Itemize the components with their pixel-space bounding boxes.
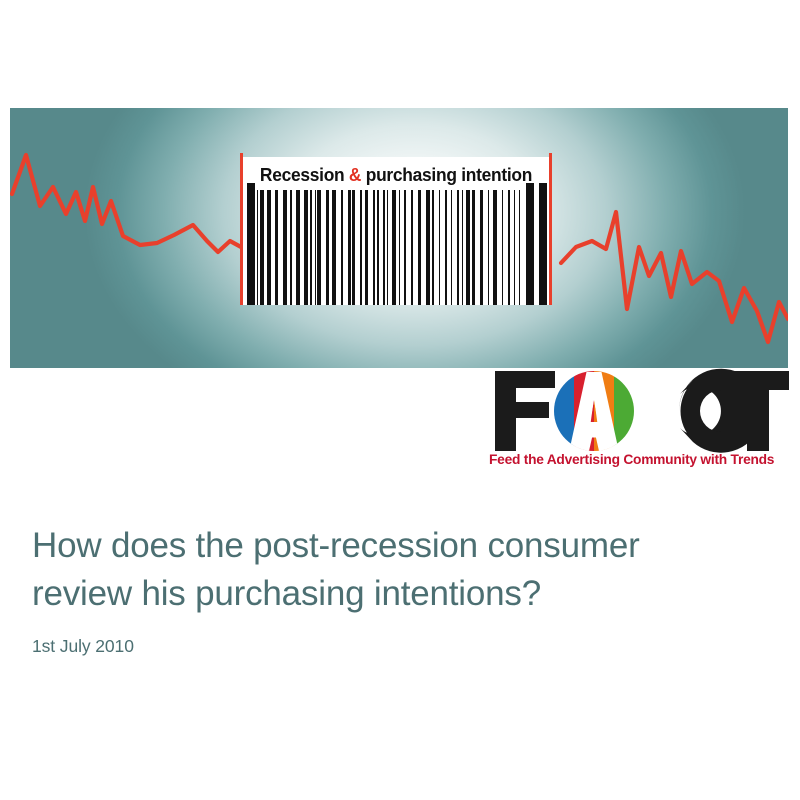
barcode-bar — [352, 190, 355, 305]
barcode-bar — [267, 190, 271, 305]
fact-logo: Feed the Advertising Community with Tren… — [487, 366, 792, 478]
barcode-bar — [332, 190, 336, 305]
barcode-graphic: Recession & purchasing intention — [243, 157, 549, 305]
barcode-bar — [432, 190, 434, 305]
barcode-bar — [502, 190, 503, 305]
barcode-bar — [480, 190, 483, 305]
title-block: How does the post-recession consumer rev… — [32, 522, 772, 657]
barcode-guard-bar-right-b — [539, 183, 547, 305]
fact-logo-tagline: Feed the Advertising Community with Tren… — [489, 452, 783, 468]
barcode-caption-after: purchasing intention — [361, 164, 532, 185]
page-title: How does the post-recession consumer rev… — [32, 522, 772, 618]
barcode-bar — [296, 190, 300, 305]
barcode-caption-text: Recession & purchasing intention — [252, 157, 540, 193]
barcode-caption-before: Recession — [260, 164, 349, 185]
barcode-bar — [275, 190, 278, 305]
barcode-bar — [451, 190, 452, 305]
barcode-bar — [373, 190, 375, 305]
barcode-bar — [462, 190, 463, 305]
barcode-rail-right — [549, 153, 552, 305]
barcode-bar — [488, 190, 489, 305]
barcode-rail-left — [240, 153, 243, 305]
barcode-guard-bar-right-a — [526, 183, 534, 305]
barcode-bar — [404, 190, 406, 305]
barcode-bar — [399, 190, 400, 305]
barcode-guard-bar-left — [247, 183, 255, 305]
barcode-bar — [439, 190, 440, 305]
barcode-bar — [519, 190, 520, 305]
barcode-bar — [411, 190, 413, 305]
barcode-bar — [348, 190, 351, 305]
barcode-bars — [243, 190, 549, 305]
trend-line-right — [561, 212, 788, 342]
fact-logo-wordmark — [487, 366, 792, 454]
barcode-bar — [326, 190, 329, 305]
barcode-bar — [341, 190, 343, 305]
barcode-bar — [514, 190, 515, 305]
barcode-bar — [317, 190, 321, 305]
barcode-bar — [426, 190, 430, 305]
barcode-bar — [466, 190, 470, 305]
barcode-bar — [315, 190, 316, 305]
barcode-bar — [310, 190, 312, 305]
barcode-bar — [383, 190, 385, 305]
barcode-bar — [290, 190, 292, 305]
barcode-bar — [493, 190, 497, 305]
barcode-bar — [260, 190, 264, 305]
barcode-bar — [392, 190, 396, 305]
page-date: 1st July 2010 — [32, 636, 772, 657]
barcode-bar — [472, 190, 475, 305]
barcode-bar — [418, 190, 421, 305]
barcode-bar — [257, 190, 258, 305]
barcode-bar — [457, 190, 459, 305]
barcode-bar — [283, 190, 287, 305]
barcode-bar — [508, 190, 510, 305]
barcode-bar — [387, 190, 388, 305]
barcode-bar — [304, 190, 308, 305]
page-title-line-1: How does the post-recession consumer — [32, 526, 640, 565]
logo-letter-f — [495, 371, 555, 451]
trend-line-left — [12, 155, 253, 255]
barcode-bar — [377, 190, 379, 305]
page-title-line-2: review his purchasing intentions? — [32, 574, 541, 613]
barcode-caption-ampersand: & — [349, 164, 361, 185]
barcode-bar — [445, 190, 447, 305]
fact-logo-svg — [487, 366, 792, 454]
barcode-bar — [365, 190, 368, 305]
barcode-bar — [360, 190, 362, 305]
